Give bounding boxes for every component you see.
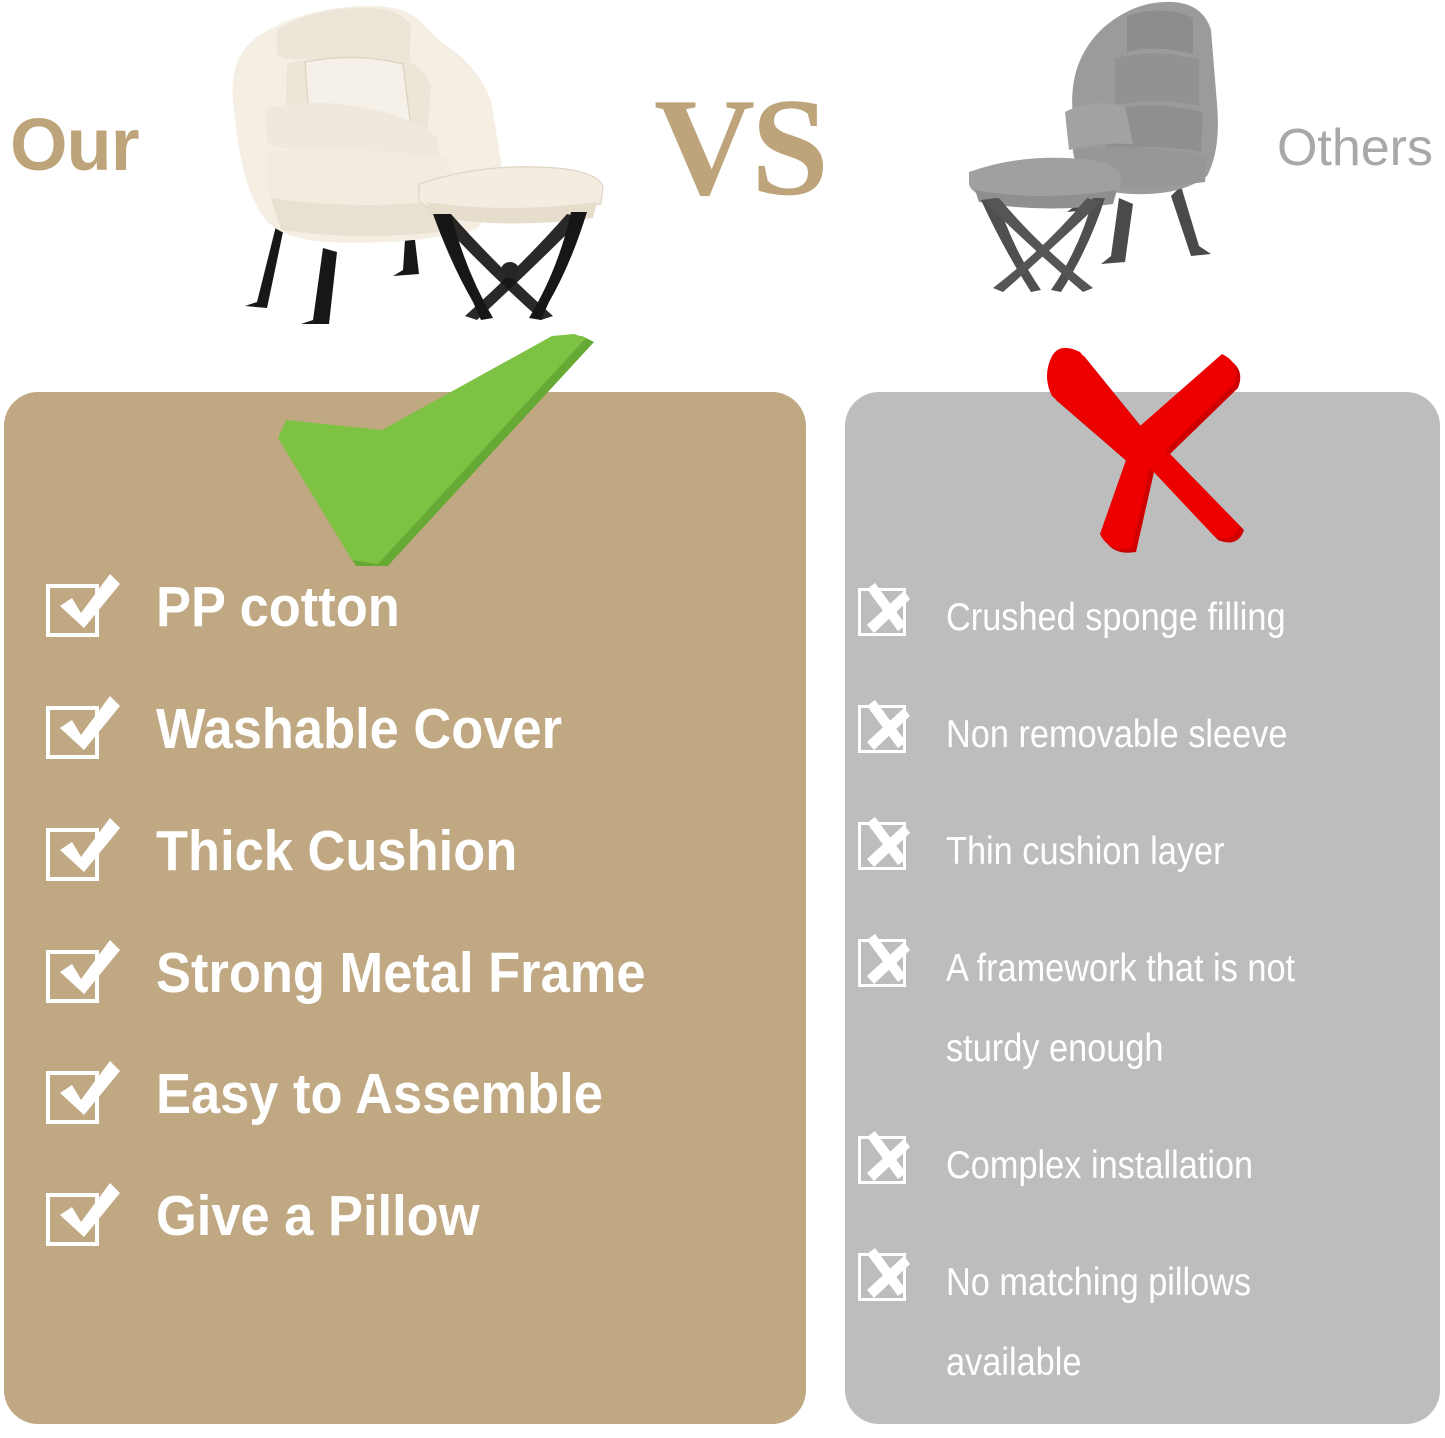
checkbox-checked-icon bbox=[46, 828, 99, 881]
list-item: Non removable sleeve bbox=[858, 703, 1433, 775]
checkbox-crossed-icon bbox=[858, 588, 906, 636]
list-item: Complex installation bbox=[858, 1134, 1433, 1206]
checkbox-crossed-icon bbox=[858, 822, 906, 870]
checkbox-checked-icon bbox=[46, 706, 99, 759]
list-item: A framework that is not sturdy enough bbox=[858, 937, 1433, 1089]
list-item-label: No matching pillows available bbox=[946, 1243, 1375, 1403]
checkbox-crossed-icon bbox=[858, 1136, 906, 1184]
checkbox-checked-icon bbox=[46, 584, 99, 637]
list-item-label: Crushed sponge filling bbox=[946, 578, 1286, 658]
list-item: Washable Cover bbox=[46, 700, 786, 760]
list-item-label: Non removable sleeve bbox=[946, 695, 1287, 775]
list-item-label: Easy to Assemble bbox=[156, 1065, 603, 1125]
list-item-label: Thick Cushion bbox=[156, 822, 517, 882]
list-item: Thin cushion layer bbox=[858, 820, 1433, 892]
our-chair-image bbox=[205, 2, 625, 332]
red-cross-icon bbox=[1032, 342, 1254, 558]
our-label: Our bbox=[10, 108, 139, 182]
list-item-label: A framework that is not sturdy enough bbox=[946, 929, 1375, 1089]
others-label: Others bbox=[1277, 122, 1433, 174]
checkbox-crossed-icon bbox=[858, 705, 906, 753]
checkbox-crossed-icon bbox=[858, 939, 906, 987]
list-item-label: PP cotton bbox=[156, 578, 400, 638]
list-item: Crushed sponge filling bbox=[858, 586, 1433, 658]
our-feature-list: PP cotton Washable Cover Thick Cushion S… bbox=[46, 578, 786, 1247]
list-item-label: Give a Pillow bbox=[156, 1187, 480, 1247]
list-item: PP cotton bbox=[46, 578, 786, 638]
checkbox-crossed-icon bbox=[858, 1253, 906, 1301]
others-feature-list: Crushed sponge filling Non removable sle… bbox=[858, 586, 1433, 1403]
list-item-label: Complex installation bbox=[946, 1126, 1253, 1206]
checkbox-checked-icon bbox=[46, 1193, 99, 1246]
others-chair-image bbox=[955, 0, 1265, 305]
list-item: Strong Metal Frame bbox=[46, 944, 786, 1004]
list-item-label: Washable Cover bbox=[156, 700, 562, 760]
vs-label: VS bbox=[654, 78, 825, 218]
list-item: Give a Pillow bbox=[46, 1187, 786, 1247]
list-item-label: Thin cushion layer bbox=[946, 812, 1225, 892]
comparison-header: Our VS Others bbox=[0, 0, 1445, 400]
list-item: No matching pillows available bbox=[858, 1251, 1433, 1403]
checkbox-checked-icon bbox=[46, 1071, 99, 1124]
list-item: Thick Cushion bbox=[46, 822, 786, 882]
checkbox-checked-icon bbox=[46, 950, 99, 1003]
list-item: Easy to Assemble bbox=[46, 1065, 786, 1125]
list-item-label: Strong Metal Frame bbox=[156, 944, 646, 1004]
green-checkmark-icon bbox=[264, 334, 604, 566]
